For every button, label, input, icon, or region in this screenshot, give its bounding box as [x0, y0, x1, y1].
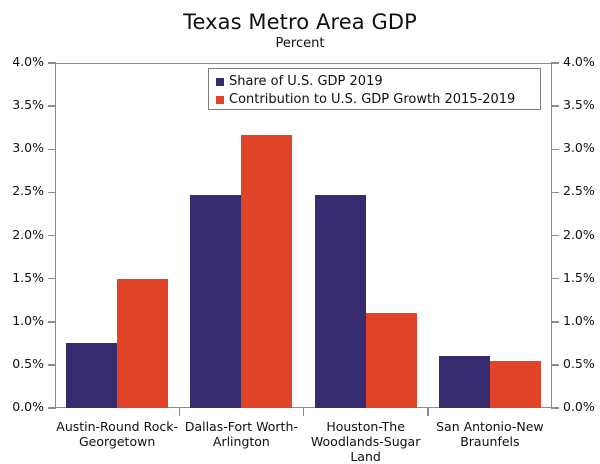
x-axis-category-line: Arlington [179, 434, 303, 449]
bar [117, 279, 168, 408]
y-axis-tick-right [551, 278, 559, 280]
legend-item[interactable]: Contribution to U.S. GDP Growth 2015-201… [216, 91, 533, 108]
legend-item-label: Contribution to U.S. GDP Growth 2015-201… [229, 93, 515, 106]
y-axis-label-left: 3.0% [0, 142, 44, 155]
bar [315, 195, 366, 408]
y-axis-label-right: 2.0% [563, 229, 600, 242]
x-axis-category-label: Austin-Round Rock-Georgetown [55, 419, 179, 449]
y-axis-tick-right [551, 235, 559, 237]
y-axis-label-right: 2.5% [563, 185, 600, 198]
x-axis-category-line: San Antonio-New [428, 419, 552, 434]
chart-subtitle: Percent [0, 36, 600, 51]
y-axis-label-right: 1.0% [563, 315, 600, 328]
y-axis-tick-left [48, 105, 56, 107]
legend-swatch-icon [216, 96, 224, 104]
y-axis-tick-left [48, 62, 56, 64]
y-axis-tick-right [551, 364, 559, 366]
y-axis-label-left: 4.0% [0, 56, 44, 69]
y-axis-tick-right [551, 62, 559, 64]
y-axis-tick-left [48, 192, 56, 194]
y-axis-tick-left [48, 235, 56, 237]
y-axis-tick-right [551, 321, 559, 323]
chart-legend: Share of U.S. GDP 2019Contribution to U.… [208, 68, 541, 110]
x-axis-tick [303, 408, 305, 416]
y-axis-label-left: 0.0% [0, 401, 44, 414]
y-axis-label-left: 1.5% [0, 272, 44, 285]
y-axis-tick-left [48, 149, 56, 151]
legend-item-label: Share of U.S. GDP 2019 [229, 75, 383, 88]
y-axis-label-left: 2.5% [0, 185, 44, 198]
x-axis-category-line: Austin-Round Rock- [55, 419, 179, 434]
x-axis-category-line: Woodlands-Sugar [304, 434, 428, 449]
legend-item[interactable]: Share of U.S. GDP 2019 [216, 73, 533, 90]
y-axis-label-right: 3.5% [563, 99, 600, 112]
x-axis-tick [427, 408, 429, 416]
x-axis-category-line: Houston-The [304, 419, 428, 434]
y-axis-label-right: 4.0% [563, 56, 600, 69]
x-axis-tick [179, 408, 181, 416]
x-axis-category-label: Houston-TheWoodlands-SugarLand [304, 419, 428, 464]
y-axis-label-left: 2.0% [0, 229, 44, 242]
y-axis-label-left: 0.5% [0, 358, 44, 371]
bar [366, 313, 417, 408]
x-axis-category-line: Georgetown [55, 434, 179, 449]
y-axis-label-left: 3.5% [0, 99, 44, 112]
y-axis-tick-right [551, 407, 559, 409]
x-axis-category-label: San Antonio-NewBraunfels [428, 419, 552, 449]
y-axis-label-right: 0.5% [563, 358, 600, 371]
bar [490, 361, 541, 408]
y-axis-tick-right [551, 105, 559, 107]
y-axis-tick-left [48, 364, 56, 366]
y-axis-tick-left [48, 321, 56, 323]
y-axis-label-right: 0.0% [563, 401, 600, 414]
y-axis-tick-right [551, 192, 559, 194]
x-axis-category-line: Land [304, 449, 428, 464]
chart-container: Texas Metro Area GDP Percent 4.0%4.0%3.5… [0, 0, 600, 461]
x-axis-category-line: Dallas-Fort Worth- [179, 419, 303, 434]
legend-swatch-icon [216, 78, 224, 86]
y-axis-label-left: 1.0% [0, 315, 44, 328]
bar [190, 195, 241, 408]
chart-title: Texas Metro Area GDP [0, 10, 600, 34]
bar [241, 135, 292, 408]
y-axis-tick-right [551, 149, 559, 151]
x-axis-category-line: Braunfels [428, 434, 552, 449]
y-axis-tick-left [48, 407, 56, 409]
y-axis-label-right: 1.5% [563, 272, 600, 285]
bar [66, 343, 117, 408]
x-axis-category-label: Dallas-Fort Worth-Arlington [179, 419, 303, 449]
y-axis-label-right: 3.0% [563, 142, 600, 155]
bar [439, 356, 490, 408]
y-axis-tick-left [48, 278, 56, 280]
